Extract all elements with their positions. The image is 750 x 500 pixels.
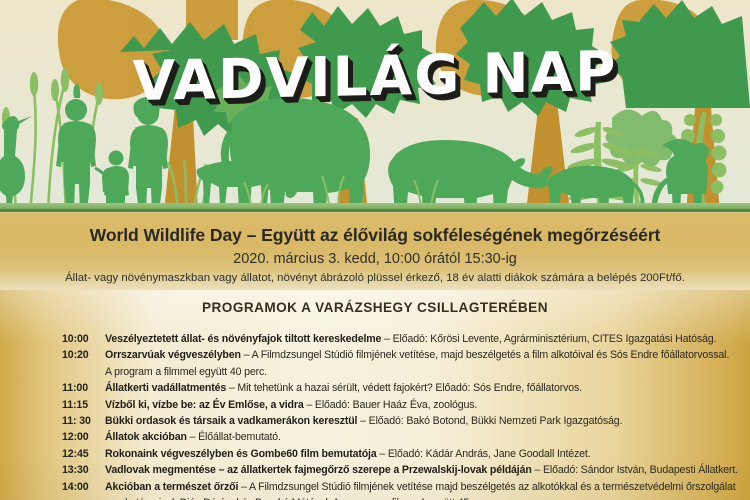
program-title: Akcióban a természet őrzői xyxy=(105,481,238,493)
program-time: 11:15 xyxy=(62,399,105,412)
program-description: Orrszarvúak végveszélyben – A Filmdzsung… xyxy=(105,349,750,362)
program-description: Bükki ordasok és társaik a vadkamerákon … xyxy=(105,415,750,428)
program-detail: – Mit tehetünk a hazai sérült, védett fa… xyxy=(226,382,582,394)
program-time: 11: 30 xyxy=(62,415,105,428)
program-detail: – Előadó: Kőrösi Levente, Agrárminisztér… xyxy=(381,333,716,345)
program-description: Akcióban a természet őrzői – A Filmdzsun… xyxy=(105,481,750,494)
program-detail: – Élőállat-bemutató. xyxy=(187,431,281,443)
program-row: 11:15Vízből ki, vízbe be: az Év Emlőse, … xyxy=(0,399,750,412)
program-time: 12:00 xyxy=(62,431,105,444)
program-detail: – Előadó: Sándor István, Budapesti Állat… xyxy=(532,464,738,476)
program-row: 12:00Állatok akcióban – Élőállat-bemutat… xyxy=(0,431,750,444)
program-row: 12:45Rokonaink végveszélyben és Gombe60 … xyxy=(0,448,750,461)
program-row: 10:00Veszélyeztetett állat- és növényfaj… xyxy=(0,333,750,346)
program-detail: – Előadó: Kádár András, Jane Goodall Int… xyxy=(377,448,591,460)
program-title: Vízből ki, vízbe be: az Év Emlőse, a vid… xyxy=(105,399,304,411)
program-time: 10:20 xyxy=(62,349,105,362)
event-headline: World Wildlife Day – Együtt az élővilág … xyxy=(0,225,750,246)
program-row: 11:00Állatkerti vadállatmentés – Mit teh… xyxy=(0,382,750,395)
program-continuation: A program a filmmel együtt 40 perc. xyxy=(0,366,750,379)
program-detail: – Előadó: Bakó Botond, Bükki Nemzeti Par… xyxy=(357,415,622,427)
program-title: Bükki ordasok és társaik a vadkamerákon … xyxy=(105,415,357,427)
program-description: Veszélyeztetett állat- és növényfajok ti… xyxy=(105,333,750,346)
program-time: 10:00 xyxy=(62,333,105,346)
program-row: 14:00Akcióban a természet őrzői – A Film… xyxy=(0,481,750,494)
program-description: Rokonaink végveszélyben és Gombe60 film … xyxy=(105,448,750,461)
info-band: World Wildlife Day – Együtt az élővilág … xyxy=(0,212,750,290)
program-row: 13:30Vadlovak megmentése – az állatkerte… xyxy=(0,464,750,477)
program-list: 10:00Veszélyeztetett állat- és növényfaj… xyxy=(0,333,750,500)
program-row: 11: 30Bükki ordasok és társaik a vadkame… xyxy=(0,415,750,428)
event-date-time: 2020. március 3. kedd, 10:00 órától 15:3… xyxy=(0,251,750,267)
entry-fee-note: Állat- vagy növénymaszkban vagy állatot,… xyxy=(0,272,750,284)
program-detail: – A Filmdzsungel Stúdió filmjének vetíté… xyxy=(241,349,729,361)
program-title: Állatok akcióban xyxy=(105,431,187,443)
hero-illustration: VADVILÁG NAP xyxy=(0,0,750,212)
program-title: Állatkerti vadállatmentés xyxy=(105,382,226,394)
program-title: Vadlovak megmentése – az állatkertek faj… xyxy=(105,464,532,476)
program-detail: – Előadó: Bauer Haáz Éva, zoológus. xyxy=(304,399,478,411)
program-description: Vízből ki, vízbe be: az Év Emlőse, a vid… xyxy=(105,399,750,412)
program-time: 11:00 xyxy=(62,382,105,395)
poster: VADVILÁG NAP World Wildlife Day – Együtt… xyxy=(0,0,750,500)
program-description: Állatok akcióban – Élőállat-bemutató. xyxy=(105,431,750,444)
program-section: PROGRAMOK A VARÁZSHEGY CSILLAGTERÉBEN 10… xyxy=(0,290,750,500)
program-description: Vadlovak megmentése – az állatkertek faj… xyxy=(105,464,750,477)
program-time: 14:00 xyxy=(62,481,105,494)
program-title: Orrszarvúak végveszélyben xyxy=(105,349,241,361)
program-time: 13:30 xyxy=(62,464,105,477)
program-time: 12:45 xyxy=(62,448,105,461)
program-title: Rokonaink végveszélyben és Gombe60 film … xyxy=(105,448,377,460)
program-detail: – A Filmdzsungel Stúdió filmjének vetíté… xyxy=(238,481,735,493)
program-description: Állatkerti vadállatmentés – Mit tehetünk… xyxy=(105,382,750,395)
program-title: Veszélyeztetett állat- és növényfajok ti… xyxy=(105,333,381,345)
program-section-title: PROGRAMOK A VARÁZSHEGY CSILLAGTERÉBEN xyxy=(0,300,750,315)
program-row: 10:20Orrszarvúak végveszélyben – A Filmd… xyxy=(0,349,750,362)
